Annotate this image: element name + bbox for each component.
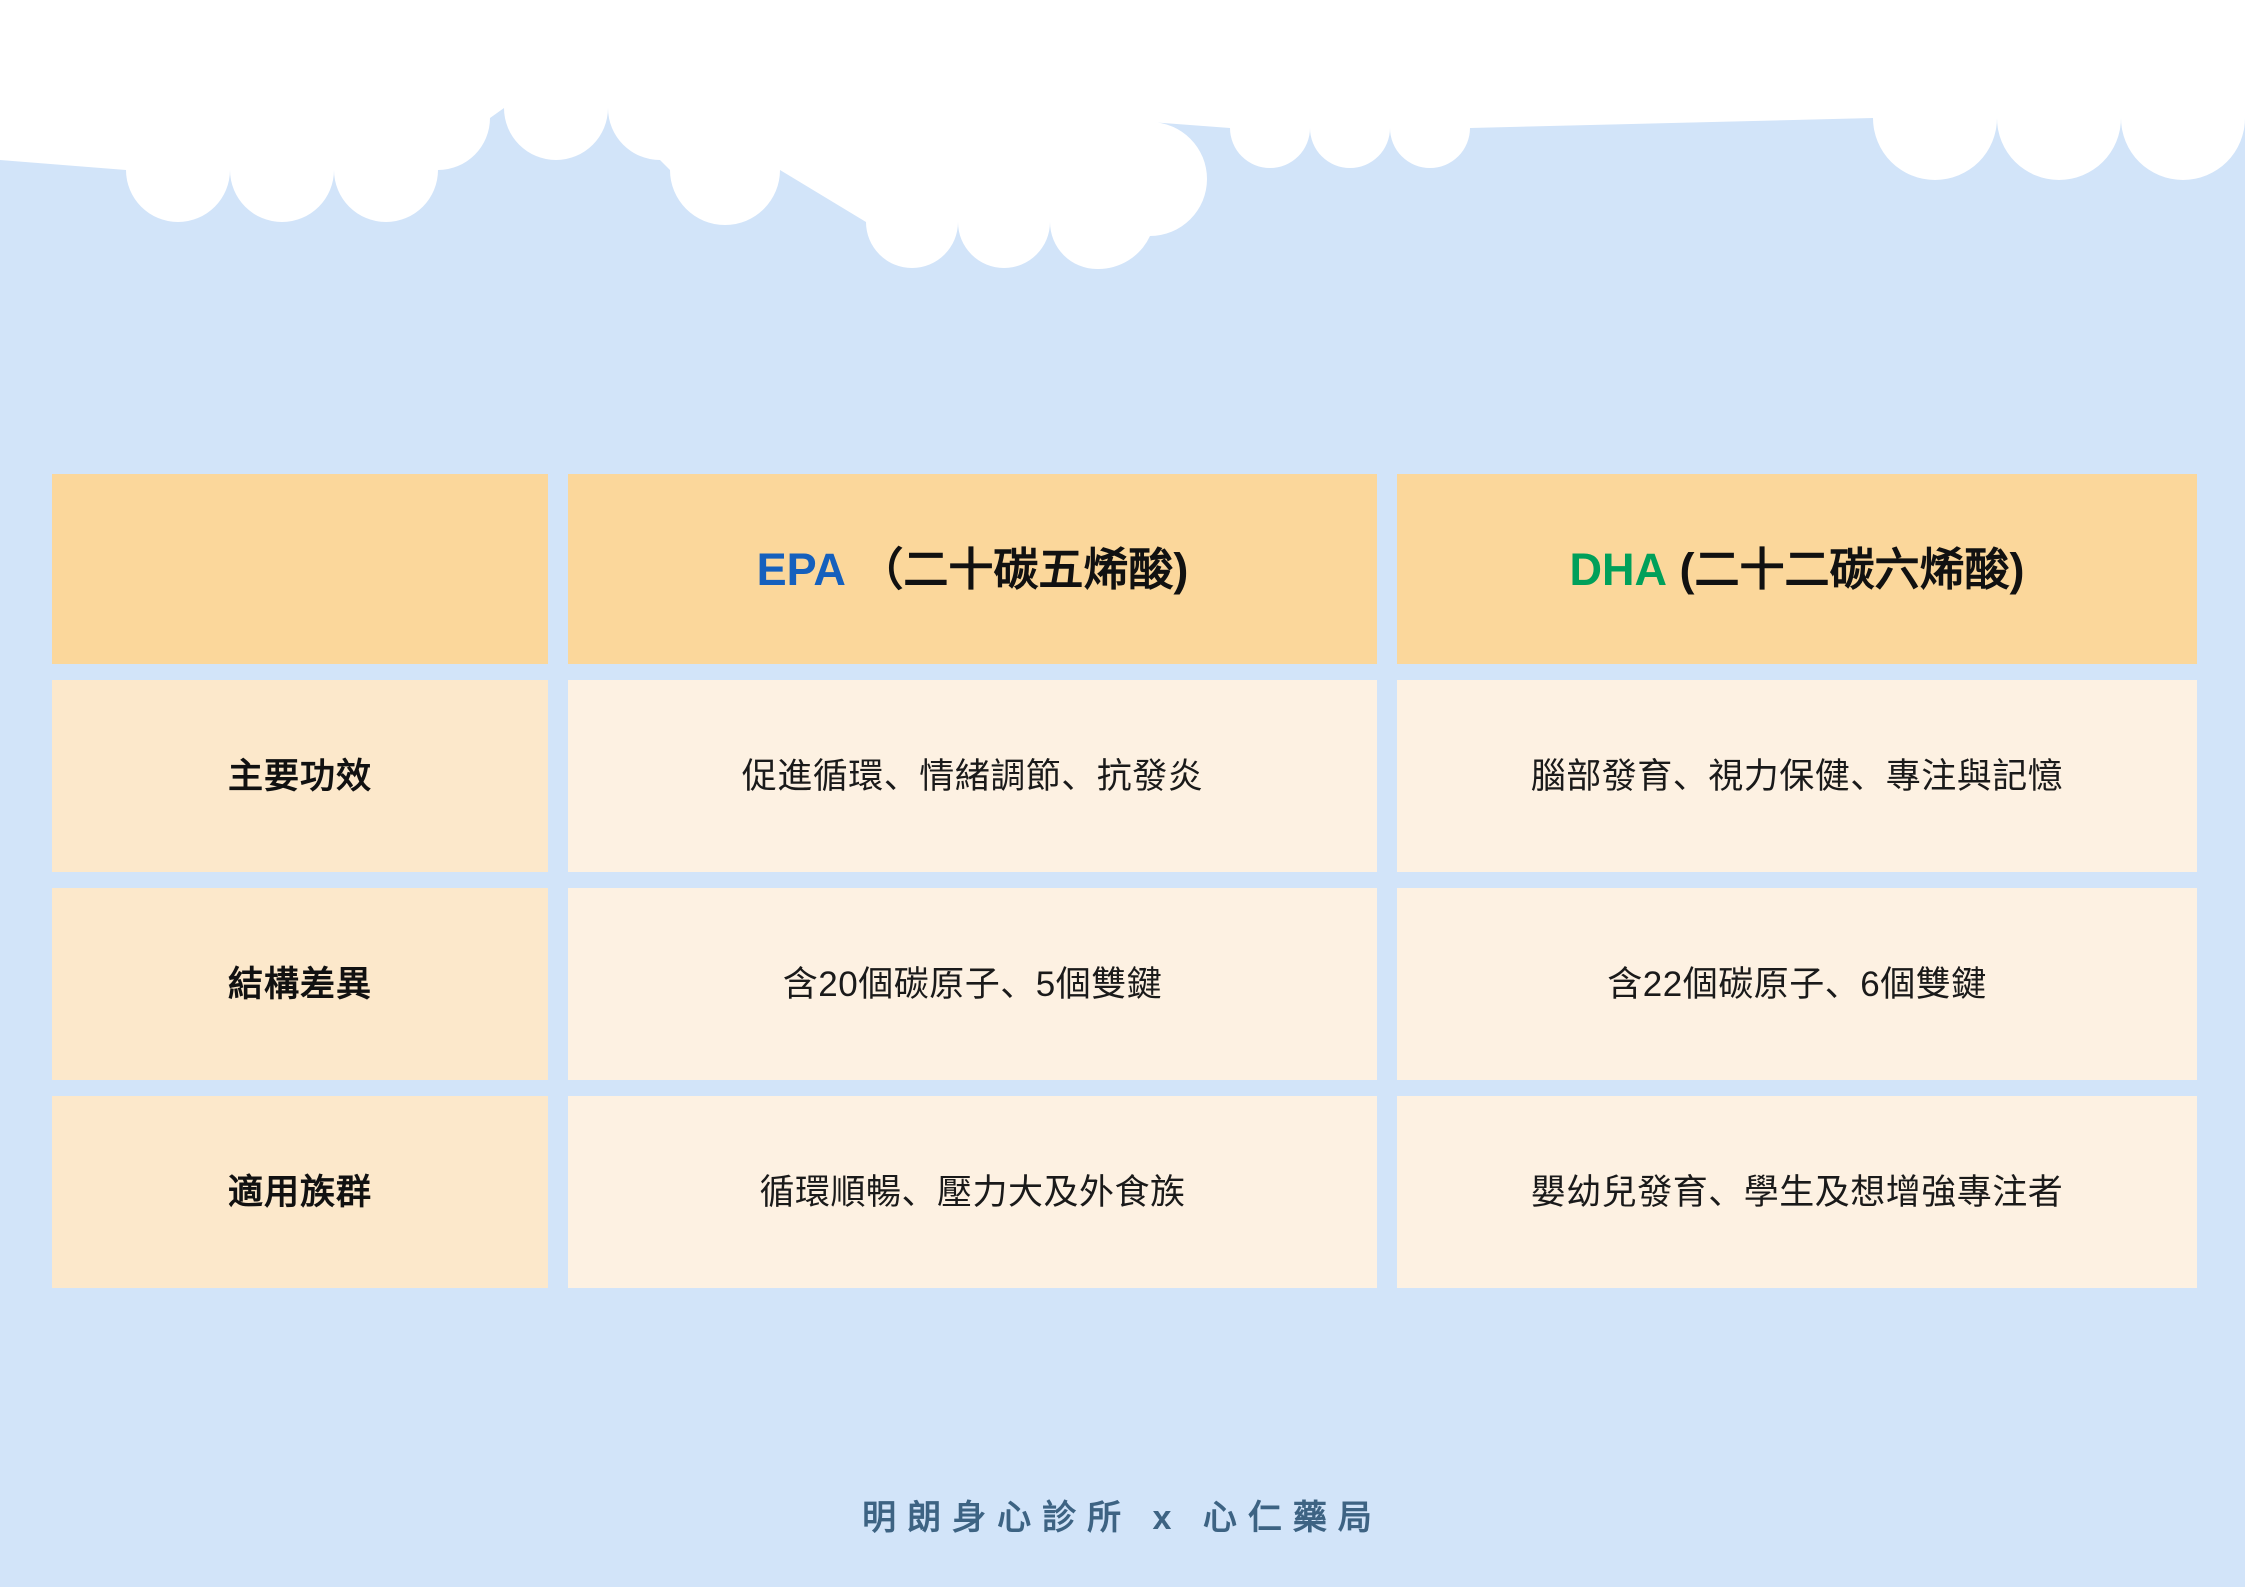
row-epa-text: 促進循環、情緒調節、抗發炎 <box>742 752 1204 801</box>
epa-dha-comparison-table: EPA （二十碳五烯酸) DHA (二十二碳六烯酸) 主要功效 促進循環、情緒調… <box>52 474 2193 1288</box>
row-epa-cell: 促進循環、情緒調節、抗發炎 <box>568 680 1377 872</box>
row-dha-text: 嬰幼兒發育、學生及想增強專注者 <box>1531 1168 2064 1217</box>
row-label-cell: 主要功效 <box>52 680 548 872</box>
dha-fullname: (二十二碳六烯酸) <box>1680 544 2025 595</box>
cloud-decoration <box>0 0 2245 300</box>
table-row: 結構差異 含20個碳原子、5個雙鍵 含22個碳原子、6個雙鍵 <box>52 888 2193 1080</box>
table-header-row: EPA （二十碳五烯酸) DHA (二十二碳六烯酸) <box>52 474 2193 664</box>
epa-abbr: EPA <box>757 544 846 595</box>
header-cell-blank <box>52 474 548 664</box>
row-dha-cell: 含22個碳原子、6個雙鍵 <box>1397 888 2197 1080</box>
row-dha-cell: 腦部發育、視力保健、專注與記憶 <box>1397 680 2197 872</box>
table-row: 主要功效 促進循環、情緒調節、抗發炎 腦部發育、視力保健、專注與記憶 <box>52 680 2193 872</box>
header-cell-epa: EPA （二十碳五烯酸) <box>568 474 1377 664</box>
row-label-text: 主要功效 <box>228 752 372 801</box>
row-label-cell: 結構差異 <box>52 888 548 1080</box>
row-dha-cell: 嬰幼兒發育、學生及想增強專注者 <box>1397 1096 2197 1288</box>
table-row: 適用族群 循環順暢、壓力大及外食族 嬰幼兒發育、學生及想增強專注者 <box>52 1096 2193 1288</box>
row-epa-cell: 含20個碳原子、5個雙鍵 <box>568 888 1377 1080</box>
footer: 明朗身心診所 x 心仁藥局 <box>0 1490 2245 1539</box>
row-epa-text: 含20個碳原子、5個雙鍵 <box>783 960 1162 1009</box>
clinic-pharmacy-credit: 明朗身心診所 x 心仁藥局 <box>862 1490 1383 1539</box>
row-epa-cell: 循環順暢、壓力大及外食族 <box>568 1096 1377 1288</box>
row-label-cell: 適用族群 <box>52 1096 548 1288</box>
epa-header-title: EPA （二十碳五烯酸) <box>757 538 1189 601</box>
row-dha-text: 含22個碳原子、6個雙鍵 <box>1607 960 1986 1009</box>
dha-abbr: DHA <box>1570 544 1668 595</box>
epa-fullname: （二十碳五烯酸) <box>858 544 1188 595</box>
row-epa-text: 循環順暢、壓力大及外食族 <box>759 1168 1185 1217</box>
row-label-text: 適用族群 <box>228 1168 372 1217</box>
header-cell-dha: DHA (二十二碳六烯酸) <box>1397 474 2197 664</box>
dha-header-title: DHA (二十二碳六烯酸) <box>1570 538 2025 601</box>
row-dha-text: 腦部發育、視力保健、專注與記憶 <box>1531 752 2064 801</box>
row-label-text: 結構差異 <box>228 960 372 1009</box>
